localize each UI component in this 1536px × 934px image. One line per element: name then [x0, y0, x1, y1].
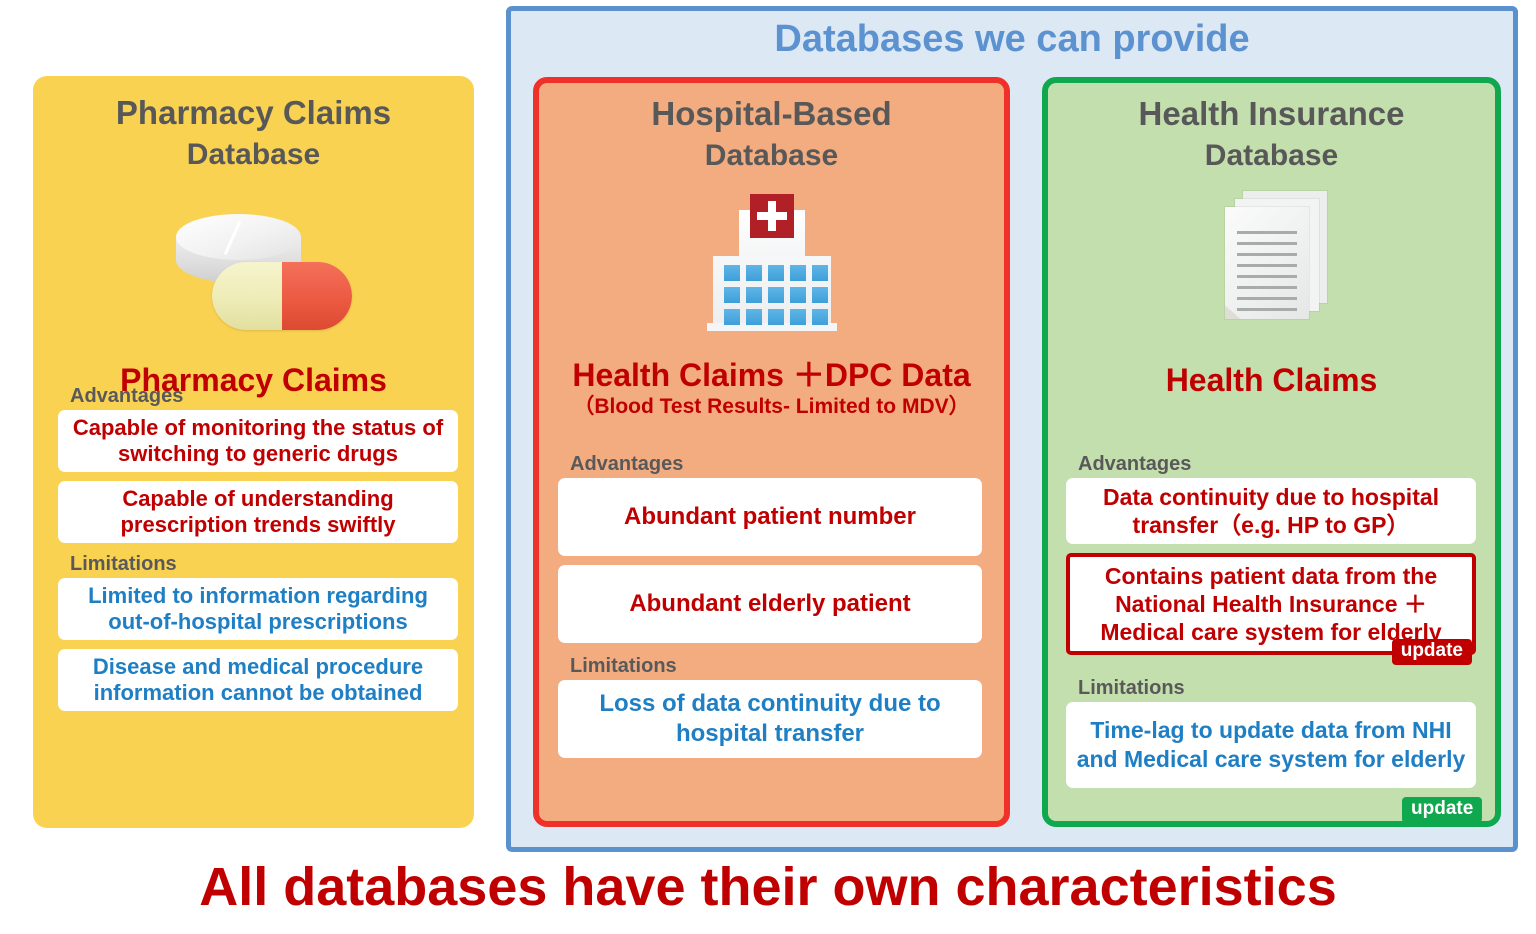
list-item: Capable of monitoring the status of swit… — [58, 410, 458, 472]
blue-container-title: Databases we can provide — [506, 18, 1518, 61]
item-text: Abundant elderly patient — [629, 590, 910, 618]
list-item: Capable of understanding prescription tr… — [58, 481, 458, 543]
pill-tablet-icon-wrap — [33, 200, 474, 335]
list-item: Abundant elderly patient — [558, 565, 982, 643]
insurance-limitations-label: Limitations — [1078, 677, 1476, 700]
hospital-icon — [697, 192, 847, 342]
hospital-window — [746, 265, 762, 281]
hospital-window — [724, 287, 740, 303]
pharmacy-limitations-label: Limitations — [70, 553, 458, 576]
hospital-window — [746, 309, 762, 325]
list-item: Abundant patient number — [558, 478, 982, 556]
pharmacy-db-title-line1: Pharmacy Claims — [33, 92, 474, 134]
list-item: Disease and medical procedure informatio… — [58, 649, 458, 711]
item-text: Capable of monitoring the status of swit… — [66, 415, 450, 467]
insurance-heading: Health Claims — [1042, 361, 1501, 399]
hospital-based-content: Hospital-Based Database — [533, 77, 1010, 420]
document-sheet-front — [1225, 207, 1309, 319]
hospital-icon-wrap — [533, 187, 1010, 342]
hospital-window — [812, 287, 828, 303]
pharmacy-items: Advantages Capable of monitoring the sta… — [58, 385, 458, 720]
hospital-window — [746, 287, 762, 303]
cross-horizontal — [757, 212, 787, 220]
hospital-window — [790, 265, 806, 281]
list-item: Data continuity due to hospital transfer… — [1066, 478, 1476, 544]
hospital-heading: Health Claims ＋DPC Data — [533, 356, 1010, 394]
item-text: Contains patient data from the National … — [1078, 562, 1464, 646]
hospital-limitations-label: Limitations — [570, 655, 982, 678]
tablet-top — [176, 214, 301, 260]
tablet-score-line — [223, 221, 240, 255]
slide-canvas: Databases we can provide Pharmacy Claims… — [0, 0, 1536, 934]
pharmacy-db-title-line2: Database — [33, 134, 474, 176]
item-text: Limited to information regarding out-of-… — [66, 583, 450, 635]
hospital-advantages-label: Advantages — [570, 453, 982, 476]
documents-icon — [1197, 185, 1347, 335]
insurance-advantages-label: Advantages — [1078, 453, 1476, 476]
hospital-db-title-line2: Database — [533, 135, 1010, 177]
capsule-icon — [212, 262, 352, 330]
insurance-db-title-line2: Database — [1042, 135, 1501, 177]
pharmacy-db-title: Pharmacy Claims Database — [33, 92, 474, 176]
hospital-items: Advantages Abundant patient number Abund… — [558, 453, 982, 767]
pill-tablet-icon — [154, 210, 354, 335]
panel-status-badge: update — [1402, 797, 1482, 823]
document-text-line — [1237, 231, 1297, 234]
pharmacy-advantages-label: Advantages — [70, 385, 458, 408]
capsule-left-half — [212, 262, 282, 330]
document-text-line — [1237, 308, 1297, 311]
hospital-window — [812, 309, 828, 325]
document-text-line — [1237, 242, 1297, 245]
status-badge: update — [1392, 639, 1472, 665]
hospital-window — [768, 309, 784, 325]
item-text: Disease and medical procedure informatio… — [66, 654, 450, 706]
capsule-right-half — [282, 262, 352, 330]
insurance-db-title-line1: Health Insurance — [1042, 93, 1501, 135]
page-headline: All databases have their own characteris… — [0, 856, 1536, 918]
document-text-line — [1237, 297, 1297, 300]
hospital-heading-sub: （Blood Test Results- Limited to MDV） — [533, 394, 1010, 420]
hospital-window — [724, 309, 740, 325]
hospital-db-title-line1: Hospital-Based — [533, 93, 1010, 135]
item-text: Abundant patient number — [624, 503, 916, 531]
hospital-db-title: Hospital-Based Database — [533, 93, 1010, 177]
insurance-db-title: Health Insurance Database — [1042, 93, 1501, 177]
hospital-window — [724, 265, 740, 281]
list-item: Time-lag to update data from NHI and Med… — [1066, 702, 1476, 788]
hospital-window — [768, 265, 784, 281]
list-item: Loss of data continuity due to hospital … — [558, 680, 982, 758]
hospital-window — [790, 309, 806, 325]
document-text-line — [1237, 253, 1297, 256]
pharmacy-claims-content: Pharmacy Claims Database Pharmacy Claims — [33, 76, 474, 399]
item-text: Capable of understanding prescription tr… — [66, 486, 450, 538]
item-text: Data continuity due to hospital transfer… — [1074, 483, 1468, 539]
item-text: Time-lag to update data from NHI and Med… — [1074, 716, 1468, 774]
health-insurance-content: Health Insurance Database He — [1042, 77, 1501, 399]
hospital-window — [812, 265, 828, 281]
item-text: Loss of data continuity due to hospital … — [566, 689, 974, 749]
hospital-window — [768, 287, 784, 303]
document-text-line — [1237, 275, 1297, 278]
documents-icon-wrap — [1042, 185, 1501, 335]
hospital-window — [790, 287, 806, 303]
document-text-line — [1237, 264, 1297, 267]
document-text-line — [1237, 286, 1297, 289]
list-item-with-badge: Contains patient data from the National … — [1066, 553, 1476, 655]
list-item: Limited to information regarding out-of-… — [58, 578, 458, 640]
medical-cross-icon — [750, 194, 794, 238]
insurance-items: Advantages Data continuity due to hospit… — [1066, 453, 1476, 797]
